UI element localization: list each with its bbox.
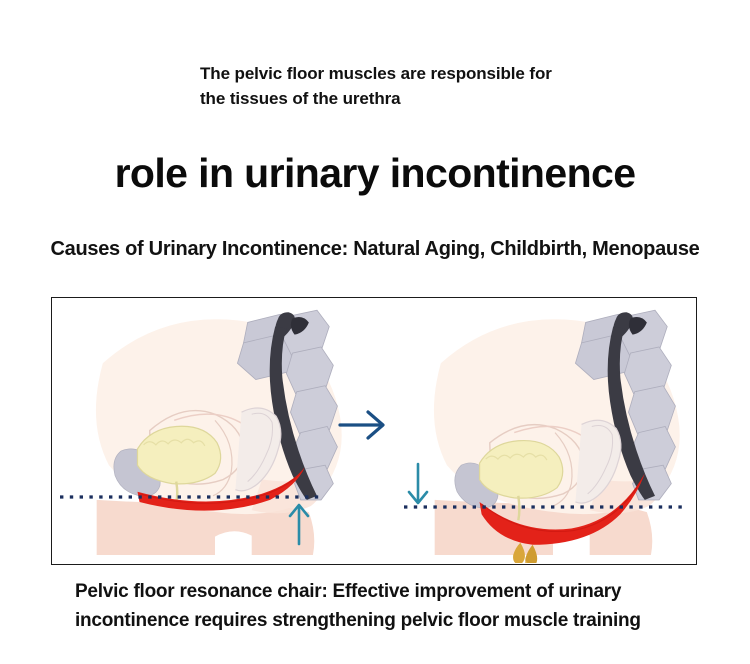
caption-line-1: Pelvic floor resonance chair: Effective … xyxy=(75,578,685,607)
illustration-panel xyxy=(51,297,697,565)
causes-subtitle: Causes of Urinary Incontinence: Natural … xyxy=(0,238,750,261)
intro-text: The pelvic floor muscles are responsible… xyxy=(200,62,620,111)
down-arrow-icon xyxy=(409,464,427,503)
healthy-pelvis-figure xyxy=(96,310,342,555)
caption-line-2: incontinence requires strengthening pelv… xyxy=(75,607,685,636)
weakened-pelvis-figure xyxy=(434,310,680,563)
panel-caption: Pelvic floor resonance chair: Effective … xyxy=(75,578,685,635)
right-arrow-icon xyxy=(340,412,383,438)
page-title: role in urinary incontinence xyxy=(0,150,750,197)
intro-line-2: the tissues of the urethra xyxy=(200,87,620,112)
intro-line-1: The pelvic floor muscles are responsible… xyxy=(200,62,620,87)
